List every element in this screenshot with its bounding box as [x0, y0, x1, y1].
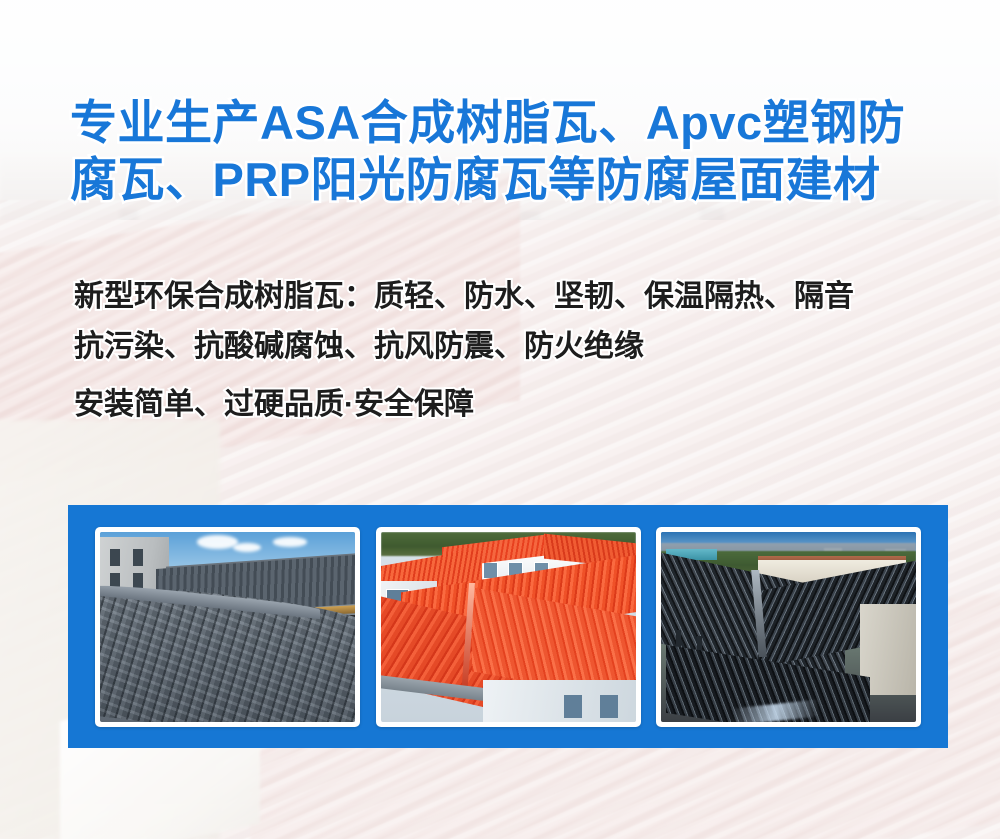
photo-frame-3[interactable]: [656, 527, 921, 727]
headline: 专业生产ASA合成树脂瓦、Apvc塑钢防 腐瓦、PRP阳光防腐瓦等防腐屋面建材: [70, 94, 950, 208]
dark-resin-tile-roof-photo: [661, 532, 916, 722]
gallery-panel: [68, 505, 948, 748]
subtitle: 新型环保合成树脂瓦：质轻、防水、坚韧、保温隔热、隔音 抗污染、抗酸碱腐蚀、抗风防…: [74, 272, 974, 430]
subtitle-line-2: 抗污染、抗酸碱腐蚀、抗风防震、防火绝缘: [74, 322, 974, 372]
grey-curved-resin-tile-roof-photo: [100, 532, 355, 722]
headline-line-2: 腐瓦、PRP阳光防腐瓦等防腐屋面建材: [70, 151, 950, 208]
subtitle-line-1: 新型环保合成树脂瓦：质轻、防水、坚韧、保温隔热、隔音: [74, 272, 974, 322]
photo-frame-2[interactable]: [376, 527, 641, 727]
headline-line-1: 专业生产ASA合成树脂瓦、Apvc塑钢防: [70, 94, 950, 151]
subtitle-line-3: 安装简单、过硬品质·安全保障: [74, 372, 974, 430]
photo-frame-1[interactable]: [95, 527, 360, 727]
red-resin-tile-roof-photo: [381, 532, 636, 722]
banner-stage: 专业生产ASA合成树脂瓦、Apvc塑钢防 腐瓦、PRP阳光防腐瓦等防腐屋面建材 …: [0, 0, 1000, 839]
